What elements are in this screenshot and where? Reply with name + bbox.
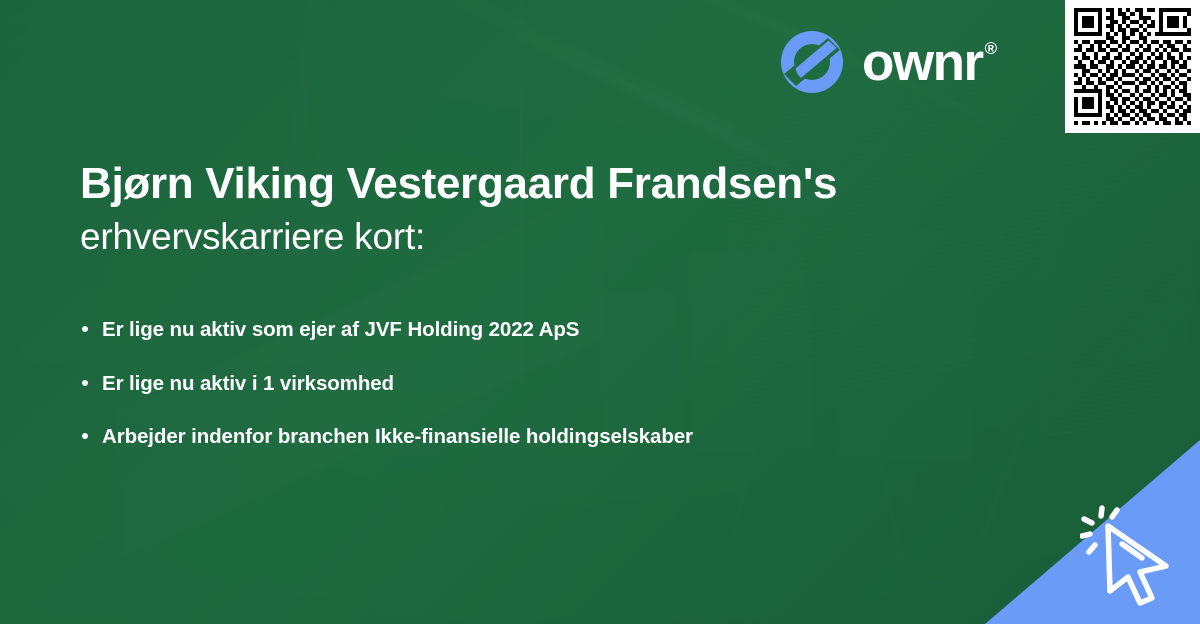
- bullet-dot-icon: [82, 326, 88, 332]
- brand-logo[interactable]: ownr ®: [778, 28, 996, 96]
- list-item-label: Er lige nu aktiv som ejer af JVF Holding…: [102, 318, 579, 341]
- ownr-circle-logo-icon: [778, 28, 846, 96]
- qr-code[interactable]: [1065, 0, 1200, 133]
- list-item: Arbejder indenfor branchen Ikke-finansie…: [82, 425, 1042, 450]
- title-line-1: Bjørn Viking Vestergaard Frandsen's: [80, 158, 980, 210]
- page-title: Bjørn Viking Vestergaard Frandsen's erhv…: [80, 158, 980, 260]
- list-item-label: Er lige nu aktiv i 1 virksomhed: [102, 372, 394, 395]
- promo-card: ownr ® Bjørn Viking Vestergaard Frandsen…: [0, 0, 1200, 624]
- click-cursor-icon: [1080, 504, 1188, 608]
- qr-code-matrix: [1074, 8, 1191, 125]
- bullet-dot-icon: [82, 380, 88, 386]
- facts-list: Er lige nu aktiv som ejer af JVF Holding…: [82, 318, 1042, 450]
- bullet-dot-icon: [82, 433, 88, 439]
- list-item: Er lige nu aktiv som ejer af JVF Holding…: [82, 318, 1042, 343]
- title-line-2: erhvervskarriere kort:: [80, 214, 980, 260]
- registered-mark: ®: [985, 40, 996, 57]
- list-item-label: Arbejder indenfor branchen Ikke-finansie…: [102, 425, 693, 448]
- brand-name: ownr: [862, 36, 983, 89]
- list-item: Er lige nu aktiv i 1 virksomhed: [82, 372, 1042, 397]
- green-overlay-gradient: [0, 0, 1200, 624]
- brand-wordmark: ownr ®: [862, 36, 996, 89]
